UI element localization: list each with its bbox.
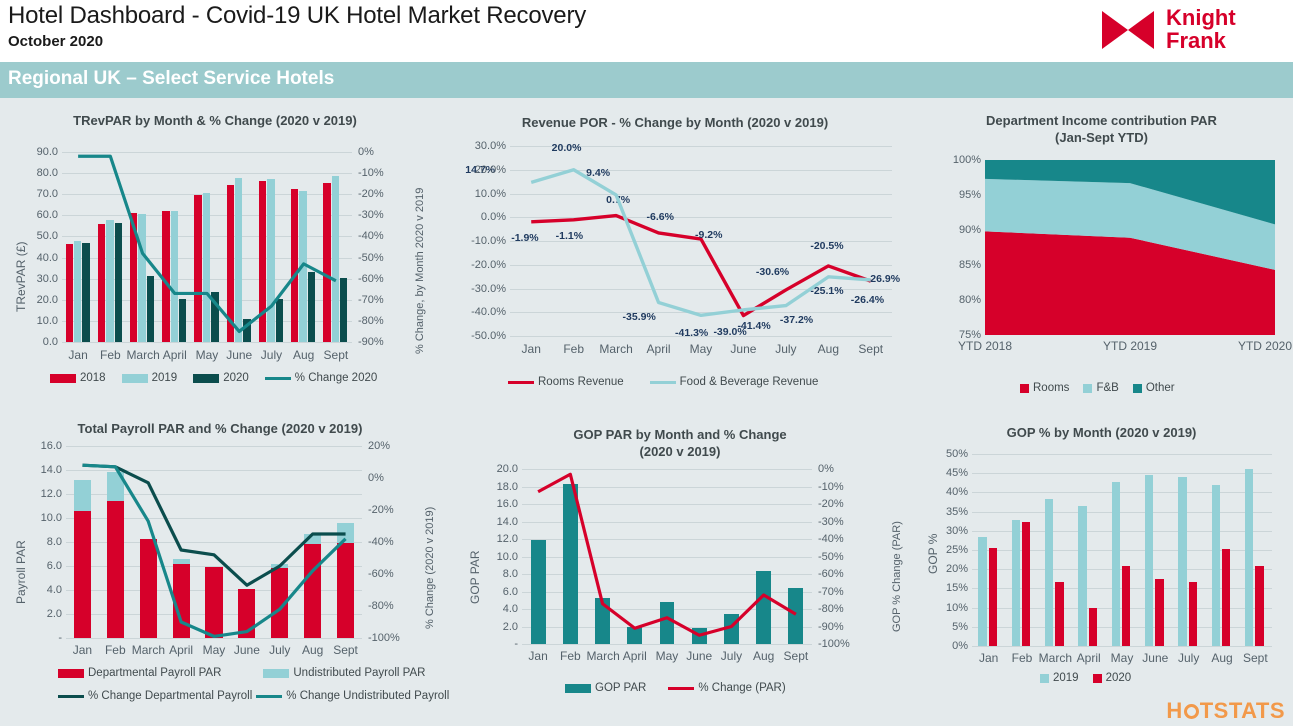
data-label-Food-Beverage-Revenue-May: -41.3% — [675, 327, 708, 339]
legend-label: Rooms Revenue — [538, 376, 624, 388]
y-tick-label: 30.0% — [466, 141, 506, 151]
y-tick-label: 15% — [938, 583, 968, 593]
y-axis-title-trevpar: TRevPAR (£) — [14, 242, 28, 312]
x-tick-label: April — [1072, 652, 1105, 665]
gridline — [510, 170, 892, 171]
y2-tick-label: -10% — [358, 168, 384, 178]
legend-label: 2020 — [1106, 672, 1132, 684]
y2-tick-label: 0% — [368, 473, 384, 483]
legend-item-other: Other — [1133, 382, 1175, 394]
legend-label: Rooms — [1033, 382, 1069, 394]
x-tick-label: June — [683, 650, 715, 663]
y-tick-label: 10.0 — [26, 316, 58, 326]
x-tick-label: July — [765, 343, 807, 356]
x-tick-label: YTD 2019 — [1077, 340, 1183, 353]
gridline — [66, 446, 362, 447]
x-tick-label: Jan — [522, 650, 554, 663]
knight-frank-logo: Knight Frank — [1094, 4, 1279, 56]
y-tick-label: 5% — [938, 622, 968, 632]
y-tick-label: 12.0 — [28, 489, 62, 499]
bar-2020-June — [243, 319, 250, 342]
bar-departmental-payroll-May — [205, 567, 222, 638]
plot-area-payroll — [66, 446, 362, 638]
bar-2019-July — [1178, 477, 1186, 646]
page-header: Hotel Dashboard - Covid-19 UK Hotel Mark… — [0, 0, 1293, 62]
x-tick-label: Feb — [99, 644, 132, 657]
chart-title-payroll: Total Payroll PAR and % Change (2020 v 2… — [0, 420, 440, 437]
page-subtitle: October 2020 — [8, 33, 103, 50]
data-label-Food-Beverage-Revenue-June: -39.0% — [713, 326, 746, 338]
x-tick-label: April — [637, 343, 679, 356]
legend-gop-par: GOP PAR% Change (PAR) — [565, 682, 786, 694]
x-tick-label: March — [132, 644, 165, 657]
y-tick-label: - — [482, 639, 518, 649]
x-tick-label: June — [1139, 652, 1172, 665]
legend-color-swatch — [1040, 674, 1049, 683]
bar-2019-March — [138, 214, 145, 342]
bar-2018-June — [227, 185, 234, 342]
legend-color-swatch — [50, 374, 76, 383]
x-tick-label: Feb — [552, 343, 594, 356]
bar-departmental-payroll-July — [271, 568, 288, 638]
bar-2019-Feb — [1012, 520, 1020, 646]
gridline — [62, 152, 352, 153]
legend-label: F&B — [1096, 382, 1118, 394]
bar-departmental-payroll-Jan — [74, 511, 91, 638]
bar-2019-April — [171, 211, 178, 342]
y-tick-label: 70.0 — [26, 189, 58, 199]
y-tick-label: 10.0 — [28, 513, 62, 523]
y-tick-label: 10.0 — [482, 552, 518, 562]
legend-color-swatch — [122, 374, 148, 383]
bar-2019-May — [203, 193, 210, 342]
chart-panel-trevpar: TRevPAR by Month & % Change (2020 v 2019… — [0, 104, 430, 394]
y2-tick-label: -100% — [818, 639, 850, 649]
chart-title-revenue-por: Revenue POR - % Change by Month (2020 v … — [440, 114, 910, 131]
y-tick-label: 14.0 — [482, 517, 518, 527]
bar-2020-Feb — [115, 223, 122, 342]
legend-item-departmental-payroll-par: Departmental Payroll PAR — [58, 667, 221, 679]
gridline — [62, 342, 352, 343]
gridline — [972, 512, 1272, 513]
knight-frank-mark-icon — [1102, 8, 1158, 52]
bar-2019-Aug — [299, 191, 306, 342]
bar-2019-June — [235, 178, 242, 342]
y2-tick-label: -60% — [358, 274, 384, 284]
gridline — [510, 265, 892, 266]
legend-color-swatch — [1133, 384, 1142, 393]
legend-item--change-undistributed-payroll: % Change Undistributed Payroll — [256, 690, 449, 702]
y-tick-label: 6.0 — [28, 561, 62, 571]
x-tick-label: Aug — [807, 343, 849, 356]
bar-undistributed-payroll-April — [173, 559, 190, 563]
x-tick-label: Sept — [1239, 652, 1272, 665]
chart-subtitle-gop-par: (2020 v 2019) — [450, 443, 910, 460]
x-tick-label: April — [619, 650, 651, 663]
y-tick-label: 30% — [938, 526, 968, 536]
y-tick-label: 6.0 — [482, 587, 518, 597]
bar-2020-Jan — [82, 243, 89, 342]
plot-area-revenue-por: -1.9%-1.1%0.7%-6.6%-9.2%-41.4%-30.6%-20.… — [510, 146, 892, 336]
bar-2020-April — [179, 299, 186, 342]
legend-label: % Change 2020 — [295, 372, 377, 384]
x-tick-label: July — [715, 650, 747, 663]
y2-tick-label: 0% — [818, 464, 834, 474]
gridline — [522, 644, 812, 645]
bar-gop-par-Feb — [563, 484, 578, 644]
y-axis-title-gop-par: GOP PAR — [468, 550, 482, 604]
data-label-Rooms-Revenue-Jan: -1.9% — [511, 232, 538, 244]
y-tick-label: 2.0 — [28, 609, 62, 619]
y-tick-label: 50% — [938, 449, 968, 459]
legend-label: % Change (PAR) — [698, 682, 785, 694]
chart-subtitle-dept-income: (Jan-Sept YTD) — [910, 129, 1293, 146]
knight-frank-wordmark: Knight Frank — [1166, 6, 1236, 52]
y-tick-label: 8.0 — [482, 569, 518, 579]
plot-area-gop-pct — [972, 454, 1272, 646]
y-tick-label: -10.0% — [466, 236, 506, 246]
plot-area-dept-income — [985, 160, 1275, 335]
y-tick-label: 95% — [945, 190, 981, 200]
legend-item-rooms: Rooms — [1020, 382, 1069, 394]
bar-departmental-payroll-March — [140, 539, 157, 638]
y-tick-label: 90% — [945, 225, 981, 235]
bar-2018-Sept — [323, 183, 330, 342]
logo-line-1: Knight — [1166, 6, 1236, 29]
hotstats-h: H — [1166, 698, 1182, 723]
bar-2019-Sept — [1245, 469, 1253, 646]
data-label-Rooms-Revenue-Feb: -1.1% — [556, 230, 583, 242]
legend-label: Undistributed Payroll PAR — [293, 667, 425, 679]
gridline — [972, 473, 1272, 474]
legend-label: % Change Departmental Payroll — [88, 690, 252, 702]
chart-panel-revenue-por: Revenue POR - % Change by Month (2020 v … — [440, 104, 910, 394]
bar-2020-Jan — [989, 548, 997, 646]
chart-panel-payroll: Total Payroll PAR and % Change (2020 v 2… — [0, 414, 440, 714]
hotstats-logo: HTSTATS — [1166, 698, 1285, 724]
y2-tick-label: -60% — [368, 569, 394, 579]
bar-undistributed-payroll-Sept — [337, 523, 354, 543]
y2-tick-label: 0% — [358, 147, 374, 157]
legend-item-2018: 2018 — [50, 372, 106, 384]
y-axis-title-gop-pct: GOP % — [926, 534, 940, 574]
bar-2018-March — [130, 213, 137, 342]
x-tick-label: Sept — [320, 349, 352, 362]
legend-line-swatch — [256, 695, 282, 698]
gridline — [66, 638, 362, 639]
x-tick-label: April — [159, 349, 191, 362]
y2-axis-title-trevpar: % Change, by Month 2020 v 2019 — [414, 188, 426, 354]
y2-tick-label: -80% — [818, 604, 844, 614]
x-tick-label: Feb — [554, 650, 586, 663]
x-tick-label: Feb — [94, 349, 126, 362]
y2-tick-label: -20% — [358, 189, 384, 199]
bar-2018-July — [259, 181, 266, 342]
x-tick-label: Sept — [780, 650, 812, 663]
bar-2020-Aug — [1222, 549, 1230, 646]
y-tick-label: 80.0 — [26, 168, 58, 178]
bar-2020-April — [1089, 608, 1097, 646]
bar-2020-May — [211, 292, 218, 342]
legend-item-gop-par: GOP PAR — [565, 682, 646, 694]
y-tick-label: 50.0 — [26, 231, 58, 241]
y-tick-label: 80% — [945, 295, 981, 305]
legend-line-swatch — [668, 687, 694, 690]
bar-gop-par-Jan — [531, 540, 546, 644]
legend-color-swatch — [565, 684, 591, 693]
y2-tick-label: -30% — [818, 517, 844, 527]
legend-revenue-por: Rooms RevenueFood & Beverage Revenue — [508, 376, 818, 388]
legend-line-swatch — [58, 695, 84, 698]
y-tick-label: 20.0 — [26, 295, 58, 305]
data-label-Rooms-Revenue-Aug: -20.5% — [810, 240, 843, 252]
data-label-Rooms-Revenue-April: -6.6% — [647, 211, 674, 223]
x-tick-label: Aug — [748, 650, 780, 663]
y-tick-label: 0.0 — [26, 337, 58, 347]
data-label-Rooms-Revenue-July: -30.6% — [756, 266, 789, 278]
bar-2020-Sept — [340, 278, 347, 342]
legend-color-swatch — [1093, 674, 1102, 683]
bar-gop-par-July — [724, 614, 739, 644]
y2-tick-label: -90% — [358, 337, 384, 347]
y-tick-label: -40.0% — [466, 307, 506, 317]
legend-item-2020: 2020 — [1093, 672, 1132, 684]
y2-tick-label: -10% — [818, 482, 844, 492]
y-tick-label: 4.0 — [28, 585, 62, 595]
gridline — [62, 173, 352, 174]
y2-tick-label: -20% — [368, 505, 394, 515]
legend-item--change-departmental-payroll: % Change Departmental Payroll — [58, 690, 252, 702]
x-tick-label: May — [191, 349, 223, 362]
y-tick-label: 35% — [938, 507, 968, 517]
bar-gop-par-March — [595, 598, 610, 644]
y-tick-label: 30.0 — [26, 274, 58, 284]
hotstats-o-icon — [1184, 704, 1199, 719]
legend-label: % Change Undistributed Payroll — [286, 690, 449, 702]
legend-color-swatch — [58, 669, 84, 678]
section-banner: Regional UK – Select Service Hotels — [0, 62, 1293, 98]
y-tick-label: 14.0 — [28, 465, 62, 475]
hotstats-rest: TSTATS — [1200, 698, 1285, 723]
gridline — [510, 217, 892, 218]
chart-panel-dept-income: Department Income contribution PAR (Jan-… — [910, 104, 1293, 394]
bar-2020-Aug — [308, 272, 315, 342]
x-tick-label: Sept — [329, 644, 362, 657]
plot-area-gop-par — [522, 469, 812, 644]
stacked-area-dept-income — [985, 160, 1275, 335]
y-tick-label: 85% — [945, 260, 981, 270]
bar-2019-Sept — [332, 176, 339, 342]
bar-2020-Feb — [1022, 522, 1030, 646]
x-tick-label: Feb — [1005, 652, 1038, 665]
chart-panel-gop-pct: GOP % by Month (2020 v 2019) 50%45%40%35… — [910, 414, 1293, 714]
bar-2018-May — [194, 195, 201, 342]
legend-item-food-beverage-revenue: Food & Beverage Revenue — [650, 376, 819, 388]
y-tick-label: 25% — [938, 545, 968, 555]
y-tick-label: 10.0% — [466, 189, 506, 199]
bar-2019-Aug — [1212, 485, 1220, 646]
y2-tick-label: -100% — [368, 633, 400, 643]
chart-title-gop-pct: GOP % by Month (2020 v 2019) — [910, 424, 1293, 441]
bar-2020-March — [147, 276, 154, 343]
x-tick-label: March — [1039, 652, 1072, 665]
x-tick-label: Aug — [1205, 652, 1238, 665]
chart-panel-gop-par: GOP PAR by Month and % Change (2020 v 20… — [450, 414, 910, 714]
legend-item-undistributed-payroll-par: Undistributed Payroll PAR — [263, 667, 425, 679]
data-label-Rooms-Revenue-May: -9.2% — [695, 229, 722, 241]
x-tick-label: July — [263, 644, 296, 657]
y2-axis-title-payroll: % Change (2020 v 2019) — [424, 507, 436, 629]
legend-label: 2019 — [1053, 672, 1079, 684]
bar-departmental-payroll-June — [238, 589, 255, 638]
legend-item--change-2020: % Change 2020 — [265, 372, 377, 384]
x-tick-label: Jan — [510, 343, 552, 356]
plot-area-trevpar — [62, 152, 352, 342]
y-tick-label: -30.0% — [466, 284, 506, 294]
legend-item--change-par-: % Change (PAR) — [668, 682, 785, 694]
y2-tick-label: -20% — [818, 499, 844, 509]
y-tick-label: 16.0 — [482, 499, 518, 509]
y-tick-label: - — [28, 633, 62, 643]
x-tick-label: June — [223, 349, 255, 362]
bar-2019-Jan — [978, 537, 986, 646]
legend-line-swatch — [508, 381, 534, 384]
bar-2018-Aug — [291, 189, 298, 342]
legend-gop-pct: 20192020 — [1040, 672, 1131, 684]
bar-gop-par-Aug — [756, 571, 771, 645]
y2-tick-label: -60% — [818, 569, 844, 579]
legend-label: Departmental Payroll PAR — [88, 667, 221, 679]
bar-gop-par-June — [692, 628, 707, 644]
y-tick-label: 40.0 — [26, 253, 58, 263]
legend-item-2020: 2020 — [193, 372, 249, 384]
legend-label: GOP PAR — [595, 682, 646, 694]
bar-2020-March — [1055, 582, 1063, 647]
y-tick-label: 0% — [938, 641, 968, 651]
y2-tick-label: -50% — [358, 253, 384, 263]
y-axis-title-payroll: Payroll PAR — [14, 540, 28, 604]
y2-tick-label: -90% — [818, 622, 844, 632]
y2-tick-label: -80% — [358, 316, 384, 326]
legend-color-swatch — [1083, 384, 1092, 393]
bar-2018-April — [162, 211, 169, 342]
x-tick-label: April — [165, 644, 198, 657]
x-tick-label: Jan — [62, 349, 94, 362]
x-tick-label: Jan — [972, 652, 1005, 665]
legend-label: Other — [1146, 382, 1175, 394]
y2-tick-label: -40% — [368, 537, 394, 547]
page-title: Hotel Dashboard - Covid-19 UK Hotel Mark… — [8, 2, 586, 30]
y-tick-label: 45% — [938, 468, 968, 478]
data-label-Rooms-Revenue-Sept: -26.9% — [867, 273, 900, 285]
gridline — [972, 492, 1272, 493]
x-tick-label: July — [1172, 652, 1205, 665]
bar-undistributed-payroll-Jan — [74, 480, 91, 511]
x-tick-label: May — [680, 343, 722, 356]
bar-2019-Jan — [74, 241, 81, 342]
y-tick-label: 12.0 — [482, 534, 518, 544]
section-banner-label: Regional UK – Select Service Hotels — [8, 68, 334, 90]
y2-tick-label: -80% — [368, 601, 394, 611]
chart-title-trevpar: TRevPAR by Month & % Change (2020 v 2019… — [0, 112, 430, 129]
x-tick-label: March — [126, 349, 158, 362]
bar-2019-Feb — [106, 220, 113, 342]
bar-undistributed-payroll-Aug — [304, 534, 321, 544]
x-tick-label: June — [722, 343, 764, 356]
y2-tick-label: -40% — [818, 534, 844, 544]
bar-2019-March — [1045, 499, 1053, 646]
data-label-Rooms-Revenue-March: 0.7% — [606, 194, 630, 206]
bar-2019-July — [267, 179, 274, 342]
data-label-Food-Beverage-Revenue-April: -35.9% — [623, 311, 656, 323]
bar-2019-June — [1145, 475, 1153, 646]
legend-color-swatch — [1020, 384, 1029, 393]
x-tick-label: Aug — [296, 644, 329, 657]
data-label-Food-Beverage-Revenue-Sept: -26.4% — [851, 294, 884, 306]
gridline — [510, 194, 892, 195]
x-tick-label: YTD 2020 — [1222, 340, 1292, 353]
bar-undistributed-payroll-Feb — [107, 472, 124, 501]
y2-tick-label: -70% — [358, 295, 384, 305]
y-tick-label: 40% — [938, 487, 968, 497]
bar-2019-April — [1078, 506, 1086, 646]
bar-gop-par-Sept — [788, 588, 803, 644]
chart-title-dept-income: Department Income contribution PAR — [910, 112, 1293, 129]
y-tick-label: 2.0 — [482, 622, 518, 632]
data-label-Food-Beverage-Revenue-July: -37.2% — [780, 314, 813, 326]
bar-departmental-payroll-April — [173, 564, 190, 638]
x-tick-label: May — [1105, 652, 1138, 665]
x-tick-label: May — [651, 650, 683, 663]
legend-line-swatch — [265, 377, 291, 380]
legend-label: 2019 — [152, 372, 178, 384]
legend-label: 2020 — [223, 372, 249, 384]
y2-tick-label: -50% — [818, 552, 844, 562]
y-tick-label: 10% — [938, 603, 968, 613]
x-tick-label: Jan — [66, 644, 99, 657]
data-label-Food-Beverage-Revenue-March: 9.4% — [586, 167, 610, 179]
bar-departmental-payroll-Feb — [107, 501, 124, 638]
legend-label: 2018 — [80, 372, 106, 384]
bar-2020-July — [1189, 582, 1197, 647]
y2-tick-label: -30% — [358, 210, 384, 220]
legend-item-f-b: F&B — [1083, 382, 1118, 394]
y-tick-label: 0.0% — [466, 212, 506, 222]
gridline — [66, 470, 362, 471]
bar-2019-May — [1112, 482, 1120, 646]
y-tick-label: 16.0 — [28, 441, 62, 451]
x-tick-label: June — [230, 644, 263, 657]
y-tick-label: 4.0 — [482, 604, 518, 614]
data-label-Food-Beverage-Revenue-Feb: 20.0% — [552, 142, 582, 154]
gridline — [972, 646, 1272, 647]
logo-line-2: Frank — [1166, 29, 1236, 52]
bar-gop-par-April — [627, 627, 642, 644]
chart-title-gop-par: GOP PAR by Month and % Change — [450, 426, 910, 443]
bar-2018-Jan — [66, 244, 73, 342]
x-tick-label: YTD 2018 — [932, 340, 1038, 353]
bar-departmental-payroll-Sept — [337, 543, 354, 638]
bar-gop-par-May — [660, 602, 675, 644]
legend-dept-income: RoomsF&BOther — [1020, 382, 1175, 394]
bar-2020-May — [1122, 566, 1130, 646]
legend-trevpar: 201820192020% Change 2020 — [50, 372, 377, 384]
legend-payroll-lines: % Change Departmental Payroll% Change Un… — [58, 690, 449, 702]
y2-axis-title-gop-par: GOP % Change (PAR) — [891, 521, 903, 632]
y-tick-label: 18.0 — [482, 482, 518, 492]
gridline — [972, 454, 1272, 455]
legend-payroll-bars: Departmental Payroll PARUndistributed Pa… — [58, 667, 425, 679]
